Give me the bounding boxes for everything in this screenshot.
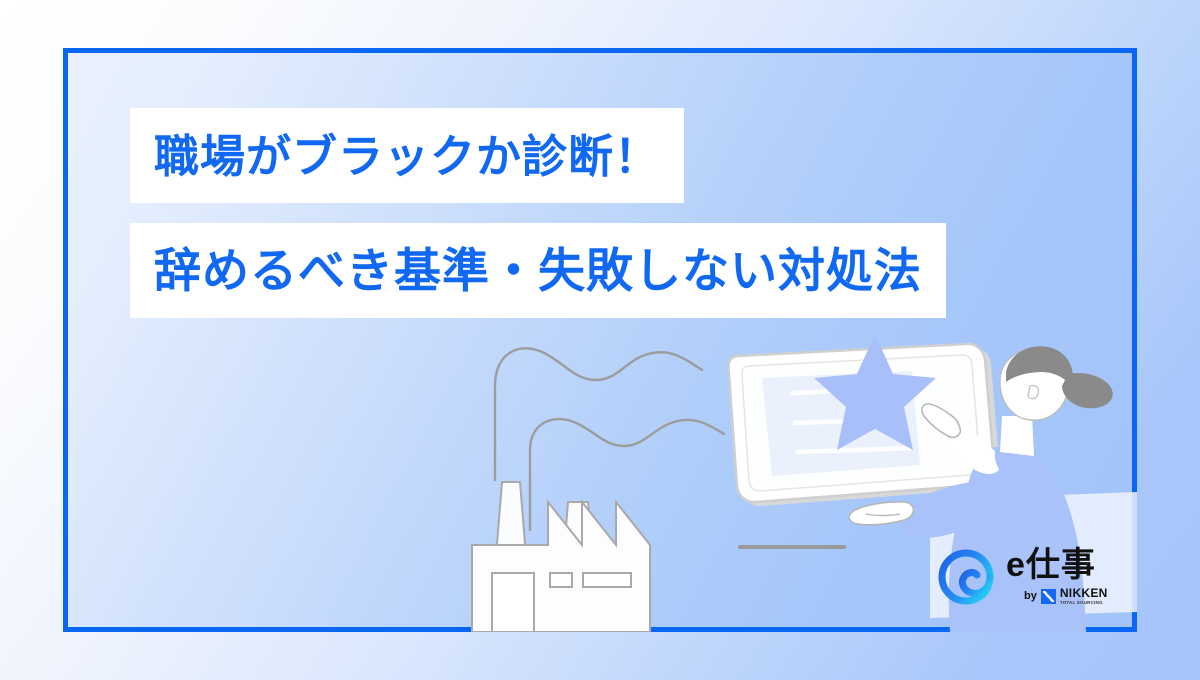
- brand-logo[interactable]: e仕事 by NIKKEN TOTAL SOURCING: [938, 548, 1108, 605]
- person-neck: [1000, 416, 1034, 456]
- factory-window-wide: [583, 573, 631, 587]
- nikken-badge-icon: [1041, 589, 1056, 604]
- nikken-tagline: TOTAL SOURCING: [1060, 601, 1108, 606]
- e-swirl-icon: [938, 549, 994, 605]
- headline-line-1: 職場がブラックか診断！: [130, 108, 684, 203]
- headline-line-2: 辞めるべき基準・失敗しない対処法: [130, 223, 946, 318]
- headline-row-2: 辞めるべき基準・失敗しない対処法: [130, 203, 946, 318]
- logo-wordmark: e仕事: [1006, 548, 1096, 582]
- nikken-text-block: NIKKEN TOTAL SOURCING: [1060, 587, 1108, 605]
- logo-partner-lockup: by NIKKEN TOTAL SOURCING: [1024, 587, 1108, 605]
- person-ear: [1028, 385, 1039, 398]
- banner-canvas: 職場がブラックか診断！ 辞めるべき基準・失敗しない対処法 e仕事: [0, 0, 1200, 680]
- headline-row-1: 職場がブラックか診断！: [130, 108, 946, 203]
- logo-by-label: by: [1024, 591, 1037, 602]
- desk-line: [738, 545, 846, 549]
- headline-group: 職場がブラックか診断！ 辞めるべき基準・失敗しない対処法: [130, 108, 946, 318]
- nikken-name: NIKKEN: [1060, 587, 1108, 599]
- factory-door: [492, 573, 534, 632]
- factory-window-small: [550, 573, 572, 587]
- logo-text-block: e仕事 by NIKKEN TOTAL SOURCING: [1006, 548, 1108, 605]
- person-ponytail: [1062, 373, 1113, 408]
- smoke-waves: [495, 348, 724, 530]
